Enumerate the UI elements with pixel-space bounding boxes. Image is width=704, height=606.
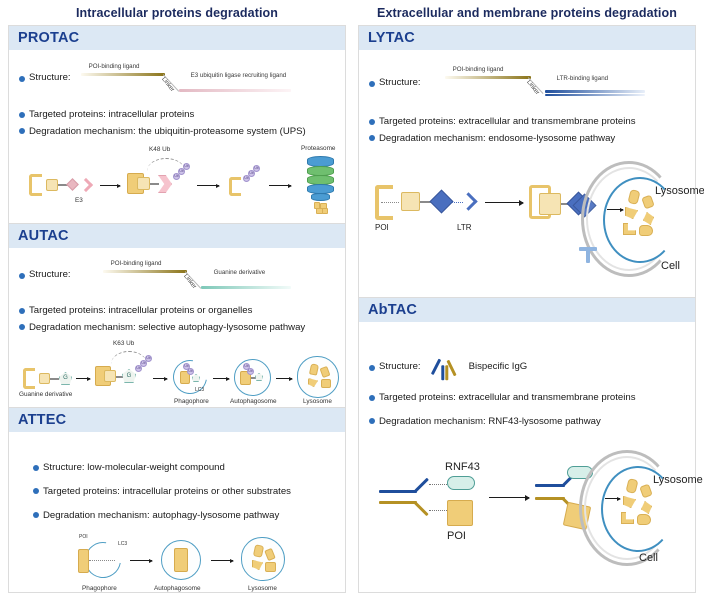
panel-lytac: LYTAC Structure: POI-binding ligand Link…: [358, 25, 696, 298]
abtac-structure-value: Bispecific IgG: [469, 361, 528, 373]
bullet-dot-icon: [369, 365, 375, 371]
lytac-structure-label: Structure:: [379, 77, 421, 89]
lysosome-icon: [241, 537, 285, 581]
panel-attec-header: ATTEC: [9, 408, 345, 432]
lytac-mechanism-label: Degradation mechanism: endosome-lysosome…: [379, 133, 615, 145]
poi-bracket-icon: [29, 174, 42, 196]
protac-mechanism-label: Degradation mechanism: the ubiquitin-pro…: [29, 126, 306, 138]
arrow-2: [153, 378, 167, 379]
left-column: Intracellular proteins degradation PROTA…: [0, 0, 352, 591]
linker-line: [150, 183, 159, 185]
ltr-ligand-diamond-icon: [429, 189, 453, 213]
abtac-mechanism-label: Degradation mechanism: RNF43-lysosome pa…: [379, 416, 601, 428]
guanine-pentagon-icon: G: [59, 372, 72, 385]
igg-right-fab: [414, 501, 429, 516]
ltr-receptor-icon: [459, 192, 477, 210]
lytac-linker-label: Linker: [524, 79, 540, 96]
panel-attec-title: ATTEC: [18, 412, 66, 428]
lytac-ltr-ligand-bar: [545, 90, 645, 93]
bullet-dot-icon: [369, 119, 375, 125]
degraded-fragment: [265, 562, 276, 572]
left-column-title: Intracellular proteins degradation: [8, 0, 346, 25]
lytac-diagram: POI LTR: [367, 155, 687, 295]
panel-abtac: AbTAC Structure: Bispecific IgG: [358, 298, 696, 593]
arrow-1: [489, 497, 529, 498]
attec-mechanism-row: Degradation mechanism: autophagy-lysosom…: [33, 510, 337, 522]
attec-label-lc3: LC3: [118, 541, 127, 547]
igg-stem-right: [445, 365, 448, 380]
phagophore-icon: [166, 353, 213, 400]
poi-ligand-box-icon: [137, 177, 150, 190]
lytac-label-poi: POI: [375, 223, 389, 232]
ubiquitin-icon: [187, 368, 194, 375]
arrow-1: [76, 378, 90, 379]
arrow-3: [213, 378, 229, 379]
attec-targets-row: Targeted proteins: intracellular protein…: [33, 486, 337, 498]
protac-structure-label: Structure:: [29, 72, 71, 84]
autac-poi-ligand-bar: [103, 270, 187, 273]
autac-label-guanine: Guanine derivative: [19, 391, 72, 398]
autac-label-k63ub: K63 Ub: [113, 340, 134, 347]
degraded-fragment: [637, 514, 651, 525]
igg-right-arm: [535, 497, 565, 500]
poi-ligand-box-icon: [104, 370, 116, 382]
lytac-label-cell: Cell: [661, 260, 680, 272]
attec-label-poi: POI: [79, 534, 88, 540]
lytac-mechanism-row: Degradation mechanism: endosome-lysosome…: [369, 133, 687, 145]
ubiquitin-icon: [253, 165, 260, 172]
panel-attec-body: Structure: low-molecular-weight compound…: [9, 432, 345, 606]
poi-binding-dash: [381, 202, 399, 203]
protac-diagram: E3 K48 Ub: [17, 142, 337, 220]
lytac-ligand-structure: POI-binding ligand Linker LTR-binding li…: [423, 68, 687, 98]
poi-protein-icon: [447, 500, 473, 526]
lysosome-icon: [297, 356, 339, 398]
abtac-diagram: RNF43 POI: [367, 442, 687, 582]
linker-line: [50, 378, 59, 380]
autac-label-phagophore: Phagophore: [174, 398, 209, 405]
autac-diagram: G Guanine derivative G K63 Ub: [17, 338, 337, 416]
degraded-fragment: [639, 225, 653, 236]
protac-label-proteasome: Proteasome: [301, 145, 335, 152]
lytac-ltr-ligand-label: LTR-binding ligand: [557, 75, 608, 83]
autac-guanine-label: Guanine derivative: [214, 269, 266, 277]
uptake-arrow: [605, 498, 620, 499]
ubiquitination-arc: [147, 158, 185, 171]
e3-chevron-icon: [79, 178, 93, 192]
lytac-structure-row: Structure: POI-binding ligand Linker LTR…: [369, 68, 687, 98]
attec-structure-row: Structure: low-molecular-weight compound: [33, 462, 337, 474]
protein-degradation-figure: Intracellular proteins degradation PROTA…: [0, 0, 704, 591]
abtac-targets-label: Targeted proteins: extracellular and tra…: [379, 392, 636, 404]
attec-structure-label: Structure: low-molecular-weight compound: [43, 462, 225, 474]
abtac-label-cell: Cell: [639, 552, 658, 564]
linker-line: [251, 377, 256, 379]
protac-linker-label: Linker: [159, 76, 175, 93]
poi-protein-icon: [78, 549, 89, 573]
poi-ligand-box-icon: [39, 373, 50, 384]
autac-label-lc3: LC3: [195, 387, 204, 393]
autac-mechanism-row: Degradation mechanism: selective autopha…: [19, 322, 337, 334]
poi-ligand-box-icon: [401, 192, 420, 211]
panel-protac-title: PROTAC: [18, 30, 79, 46]
arrow-4: [276, 378, 292, 379]
igg-right-arm: [379, 501, 417, 504]
abtac-structure-label: Structure:: [379, 361, 421, 373]
protac-structure-row: Structure: POI-binding ligand Linker E3 …: [19, 63, 337, 93]
bullet-dot-icon: [19, 76, 25, 82]
protac-label-k48ub: K48 Ub: [149, 146, 170, 153]
bullet-dot-icon: [369, 418, 375, 424]
panel-lytac-title: LYTAC: [368, 30, 415, 46]
bullet-dot-icon: [19, 324, 25, 330]
panel-autac: AUTAC Structure: POI-binding ligand Link…: [8, 224, 346, 408]
attec-compound-link: [89, 560, 115, 561]
bullet-dot-icon: [33, 488, 39, 494]
panel-protac: PROTAC Structure: POI-binding ligand Lin…: [8, 25, 346, 224]
lytac-ltr-ligand-bar2: [545, 94, 645, 96]
panel-abtac-header: AbTAC: [359, 298, 695, 322]
right-column: Extracellular and membrane proteins degr…: [352, 0, 704, 591]
bullet-dot-icon: [19, 128, 25, 134]
degraded-fragment: [321, 379, 331, 388]
peptide-fragment: [322, 208, 328, 214]
arrow-2: [211, 560, 233, 561]
lytac-targets-label: Targeted proteins: extracellular and tra…: [379, 116, 636, 128]
bullet-dot-icon: [369, 135, 375, 141]
autac-linker-label: Linker: [181, 273, 197, 290]
protac-poi-ligand-bar: [81, 73, 165, 76]
abtac-targets-row: Targeted proteins: extracellular and tra…: [369, 392, 687, 404]
autac-mechanism-label: Degradation mechanism: selective autopha…: [29, 322, 305, 334]
poi-bracket-icon: [229, 177, 241, 196]
attec-targets-label: Targeted proteins: intracellular protein…: [43, 486, 291, 498]
autac-ligand-structure: POI-binding ligand Linker Guanine deriva…: [73, 260, 337, 290]
abtac-label-poi: POI: [447, 530, 466, 542]
panel-abtac-body: Structure: Bispecific IgG Targeted prote…: [359, 322, 695, 586]
protac-targets-row: Targeted proteins: intracellular protein…: [19, 109, 337, 121]
panel-autac-header: AUTAC: [9, 224, 345, 248]
bullet-dot-icon: [33, 512, 39, 518]
lytac-label-ltr: LTR: [457, 223, 472, 232]
lytac-poi-ligand-bar: [445, 76, 531, 79]
arrow-2: [197, 185, 219, 186]
arrow-1: [100, 185, 120, 186]
bullet-dot-icon: [19, 273, 25, 279]
e3-ligand-diamond-icon: [66, 178, 79, 191]
igg-left-arm: [379, 490, 417, 493]
guanine-pentagon-icon: G: [122, 369, 136, 383]
poi-bracket-icon: [23, 368, 35, 389]
protac-e3-ligand-bar: [179, 89, 291, 92]
bullet-dot-icon: [369, 81, 375, 87]
rnf43-icon: [447, 476, 475, 490]
rnf43-binding-dash: [429, 484, 449, 485]
protac-ligand-structure: POI-binding ligand Linker E3 ubiquitin l…: [73, 63, 337, 93]
abtac-structure-row: Structure: Bispecific IgG: [369, 356, 687, 378]
autac-label-autophagosome: Autophagosome: [230, 398, 277, 405]
arrow-1: [485, 202, 523, 203]
arrow-1: [130, 560, 152, 561]
panel-autac-body: Structure: POI-binding ligand Linker Gua…: [9, 248, 345, 420]
panel-lytac-header: LYTAC: [359, 26, 695, 50]
igg-left-fab: [414, 478, 429, 493]
arrow-3: [269, 185, 291, 186]
abtac-label-lysosome: Lysosome: [653, 474, 703, 486]
igg-left-arm: [430, 359, 440, 375]
autac-targets-label: Targeted proteins: intracellular protein…: [29, 305, 252, 317]
lytac-targets-row: Targeted proteins: extracellular and tra…: [369, 116, 687, 128]
protac-label-e3: E3: [75, 197, 83, 204]
poi-ligand-box-icon: [46, 179, 58, 191]
protac-poi-ligand-label: POI-binding ligand: [89, 63, 140, 71]
panel-autac-title: AUTAC: [18, 228, 69, 244]
panel-attec: ATTEC Structure: low-molecular-weight co…: [8, 408, 346, 593]
attec-mechanism-label: Degradation mechanism: autophagy-lysosom…: [43, 510, 279, 522]
autac-targets-row: Targeted proteins: intracellular protein…: [19, 305, 337, 317]
attec-diagram: POI LC3 Phagophore Autophagosome: [17, 530, 337, 602]
panel-lytac-body: Structure: POI-binding ligand Linker LTR…: [359, 50, 695, 299]
bullet-dot-icon: [19, 308, 25, 314]
membrane-receptor-stem: [586, 249, 590, 263]
ubiquitination-arc: [111, 351, 147, 364]
protac-mechanism-row: Degradation mechanism: the ubiquitin-pro…: [19, 126, 337, 138]
poi-ligand-box-icon: [539, 193, 561, 215]
bullet-dot-icon: [369, 395, 375, 401]
autac-structure-label: Structure:: [29, 269, 71, 281]
linker-line: [116, 376, 123, 378]
e3-ligase-icon: [158, 175, 172, 193]
lytac-label-lysosome: Lysosome: [655, 185, 704, 197]
igg-stem-left: [441, 365, 444, 380]
poi-protein-icon: [174, 548, 188, 572]
bispecific-igg-icon: [429, 356, 463, 378]
right-column-title: Extracellular and membrane proteins degr…: [358, 0, 696, 25]
lytac-poi-ligand-label: POI-binding ligand: [453, 66, 504, 74]
autac-structure-row: Structure: POI-binding ligand Linker Gua…: [19, 260, 337, 290]
ubiquitin-icon: [247, 368, 254, 375]
abtac-mechanism-row: Degradation mechanism: RNF43-lysosome pa…: [369, 416, 687, 428]
protac-e3-ligand-label: E3 ubiquitin ligase recruiting ligand: [191, 72, 287, 80]
bullet-dot-icon: [19, 112, 25, 118]
panel-protac-body: Structure: POI-binding ligand Linker E3 …: [9, 50, 345, 224]
panel-protac-header: PROTAC: [9, 26, 345, 50]
autac-guanine-bar: [201, 286, 291, 289]
protac-targets-label: Targeted proteins: intracellular protein…: [29, 109, 194, 121]
poi-binding-dash: [429, 510, 449, 511]
autac-poi-ligand-label: POI-binding ligand: [111, 260, 162, 268]
abtac-label-rnf43: RNF43: [445, 461, 480, 473]
uptake-arrow: [607, 209, 623, 210]
igg-left-arm: [535, 484, 565, 487]
autac-label-lysosome: Lysosome: [303, 398, 332, 405]
panel-abtac-title: AbTAC: [368, 302, 417, 318]
proteasome-cap: [311, 193, 330, 201]
bullet-dot-icon: [33, 465, 39, 471]
